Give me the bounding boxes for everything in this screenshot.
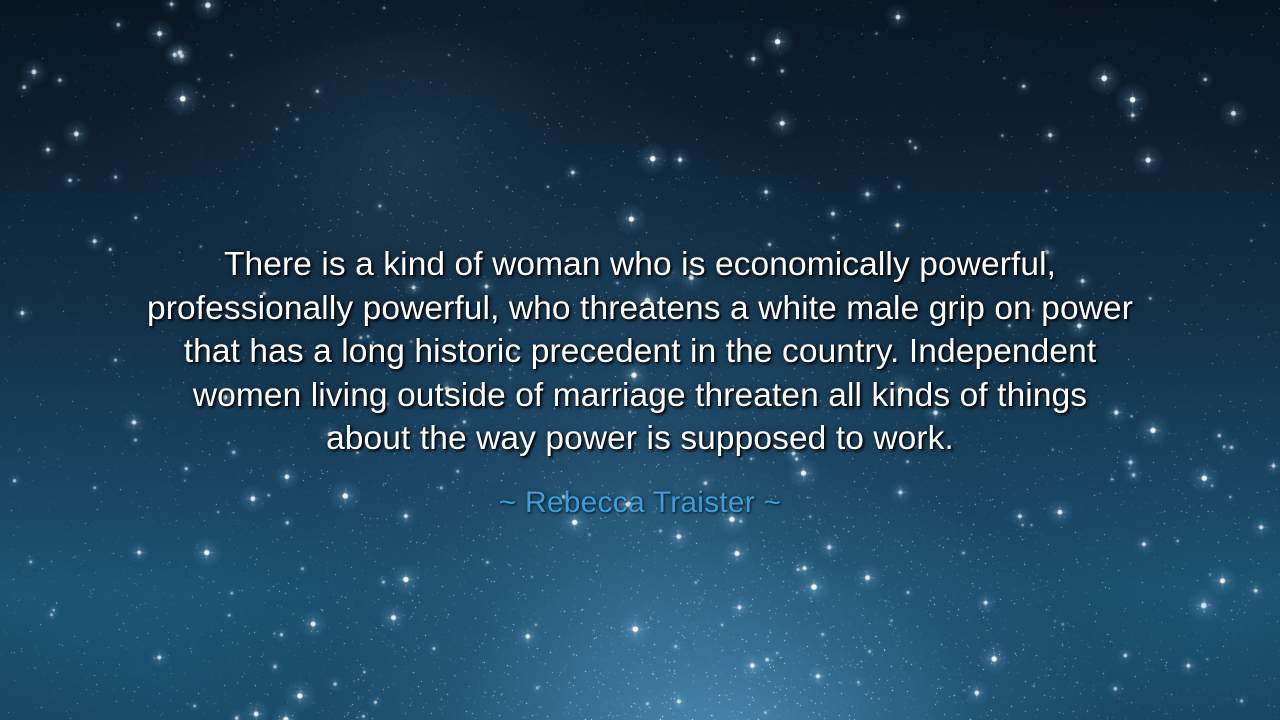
quote-line-4: women living outside of marriage threate… bbox=[72, 374, 1208, 418]
quote-line-1: There is a kind of woman who is economic… bbox=[72, 243, 1208, 287]
quote-text: There is a kind of woman who is economic… bbox=[0, 243, 1280, 461]
quote-line-5: about the way power is supposed to work. bbox=[72, 417, 1208, 461]
quote-card: There is a kind of woman who is economic… bbox=[0, 0, 1280, 720]
quote-line-3: that has a long historic precedent in th… bbox=[72, 330, 1208, 374]
quote-attribution: ~ Rebecca Traister ~ bbox=[0, 461, 1280, 522]
quote-block: There is a kind of woman who is economic… bbox=[0, 243, 1280, 522]
quote-line-2: professionally powerful, who threatens a… bbox=[72, 287, 1208, 331]
